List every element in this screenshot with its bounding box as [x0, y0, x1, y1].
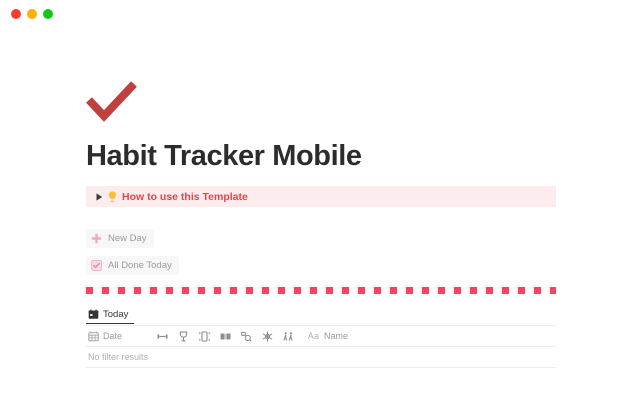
column-name[interactable]: Aa Name — [299, 326, 348, 346]
column-reading[interactable] — [215, 326, 236, 346]
column-no-sugar[interactable] — [236, 326, 257, 346]
dashed-divider — [86, 287, 556, 294]
snowflake-icon — [262, 331, 273, 342]
no-phone-icon — [199, 331, 210, 342]
no-sugar-icon — [241, 331, 252, 342]
all-done-today-button[interactable]: All Done Today — [86, 256, 179, 275]
app-window: Habit Tracker Mobile How to use this Tem… — [0, 0, 640, 400]
how-to-use-toggle[interactable]: How to use this Template — [86, 186, 556, 207]
database-table: Date — [86, 326, 556, 368]
person-walking-icon — [283, 331, 294, 342]
plus-icon — [90, 232, 103, 245]
column-no-alcohol[interactable] — [173, 326, 194, 346]
tab-today[interactable]: Today — [86, 305, 134, 324]
checkbox-checked-icon — [90, 259, 103, 272]
callout-label: How to use this Template — [122, 191, 248, 203]
maximize-window-button[interactable] — [43, 9, 53, 19]
dumbbell-icon — [157, 331, 168, 342]
column-workout[interactable] — [152, 326, 173, 346]
new-day-button[interactable]: New Day — [86, 229, 154, 248]
all-done-today-row: All Done Today — [86, 256, 556, 283]
table-header-row: Date — [86, 326, 556, 347]
wine-glass-icon — [178, 331, 189, 342]
text-aa-icon: Aa — [307, 331, 320, 342]
window-titlebar — [0, 0, 640, 28]
new-day-row: New Day — [86, 229, 556, 256]
new-day-label: New Day — [108, 233, 147, 244]
table-empty-state: No filter results — [86, 347, 556, 368]
triangle-right-icon[interactable] — [92, 193, 106, 201]
tab-today-label: Today — [103, 309, 128, 320]
page-content: Habit Tracker Mobile How to use this Tem… — [86, 80, 556, 368]
checkmark-icon[interactable] — [86, 80, 138, 122]
column-steps[interactable] — [278, 326, 299, 346]
action-buttons: New Day All Done Today — [86, 229, 556, 283]
open-book-icon — [220, 331, 231, 342]
page-title[interactable]: Habit Tracker Mobile — [86, 140, 556, 172]
light-bulb-emoji — [108, 191, 117, 203]
calendar-icon — [88, 309, 99, 320]
column-name-label: Name — [324, 331, 348, 341]
empty-state-label: No filter results — [88, 352, 148, 362]
close-window-button[interactable] — [11, 9, 21, 19]
view-tabs: Today — [86, 305, 556, 326]
column-date-label: Date — [103, 331, 122, 341]
column-date[interactable]: Date — [86, 326, 152, 346]
minimize-window-button[interactable] — [27, 9, 37, 19]
calendar-date-icon — [88, 331, 99, 342]
window-traffic-lights — [11, 9, 53, 19]
page-canvas: Habit Tracker Mobile How to use this Tem… — [0, 28, 640, 400]
column-no-phone[interactable] — [194, 326, 215, 346]
all-done-today-label: All Done Today — [108, 260, 172, 271]
column-cold-shower[interactable] — [257, 326, 278, 346]
